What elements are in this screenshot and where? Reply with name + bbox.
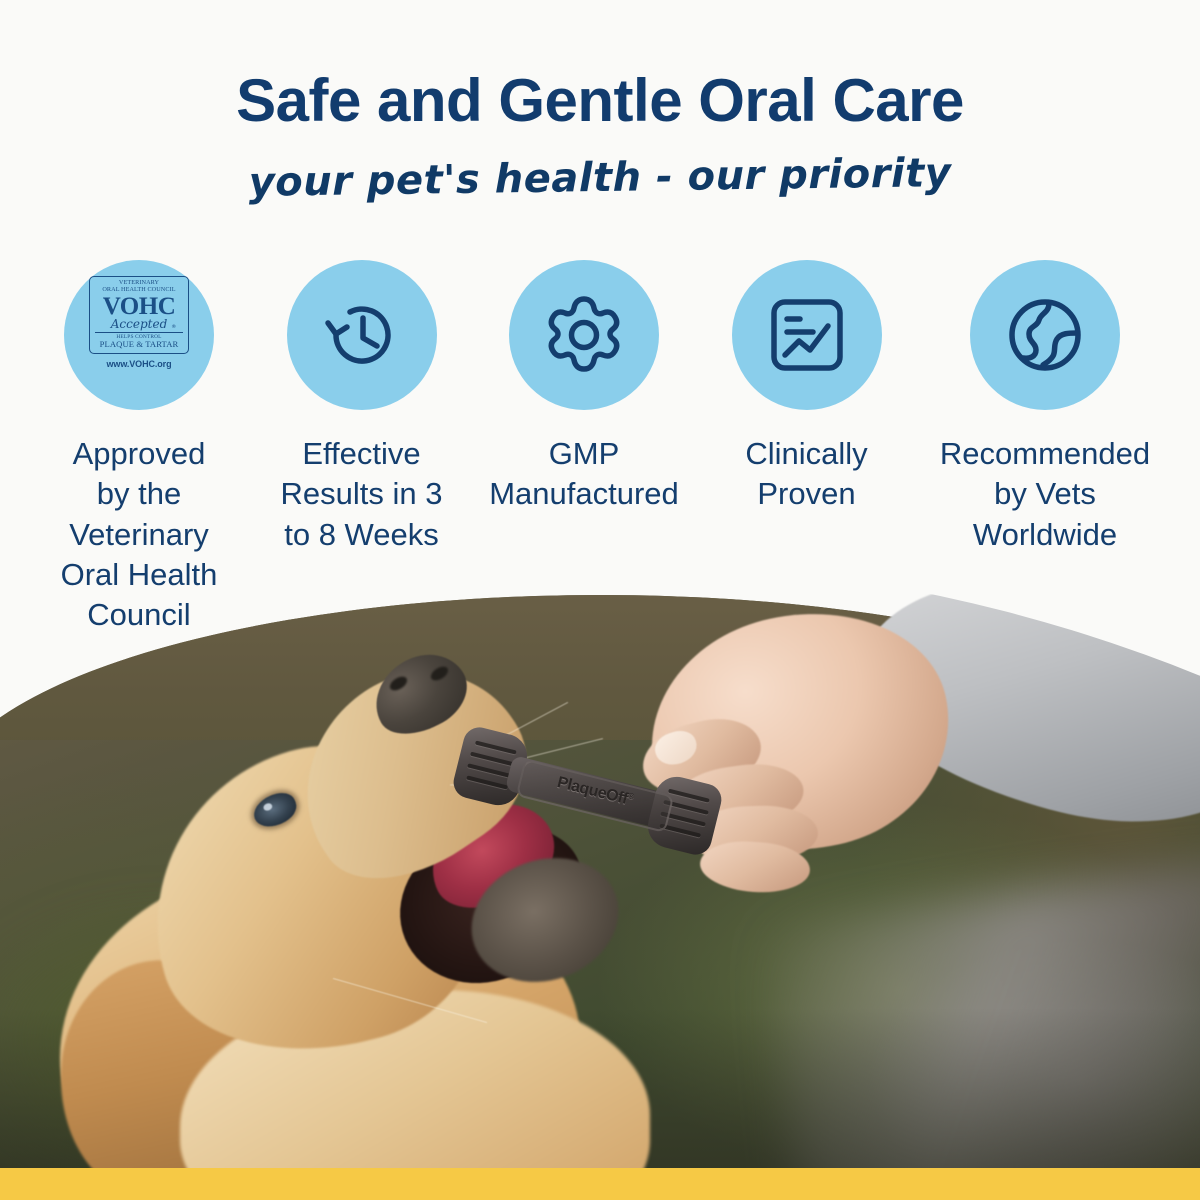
registered-mark: ® bbox=[627, 791, 635, 801]
feature-label: GMP Manufactured bbox=[489, 434, 679, 515]
clock-rotate-icon bbox=[318, 291, 406, 379]
registered-mark: ® bbox=[171, 325, 176, 330]
feature-icon-circle: VETERINARY ORAL HEALTH COUNCIL VOHC Acce… bbox=[64, 260, 214, 410]
page-title: Safe and Gentle Oral Care bbox=[0, 66, 1200, 135]
feature-gmp-manufactured: GMP Manufactured bbox=[475, 260, 693, 515]
feature-label: Recommended by Vets Worldwide bbox=[940, 434, 1150, 555]
feature-icon-circle bbox=[509, 260, 659, 410]
vohc-wordmark: VOHC bbox=[103, 295, 176, 319]
divider bbox=[95, 332, 183, 333]
feature-icon-circle bbox=[287, 260, 437, 410]
feature-label: Effective Results in 3 to 8 Weeks bbox=[281, 434, 443, 555]
feature-recommended-by-vets: Recommended by Vets Worldwide bbox=[920, 260, 1170, 555]
hero-photo: PlaqueOff® bbox=[0, 560, 1200, 1168]
vohc-url: www.VOHC.org bbox=[107, 359, 172, 369]
bottom-accent-bar bbox=[0, 1168, 1200, 1200]
marketing-graphic: Safe and Gentle Oral Care your pet's hea… bbox=[0, 0, 1200, 1200]
feature-label: Clinically Proven bbox=[745, 434, 867, 515]
page-subtitle: your pet's health - our priority bbox=[0, 147, 1200, 210]
chart-report-icon bbox=[765, 293, 849, 377]
feature-icon-circle bbox=[970, 260, 1120, 410]
feature-effective-results: Effective Results in 3 to 8 Weeks bbox=[253, 260, 471, 555]
globe-icon bbox=[1003, 293, 1087, 377]
gear-icon bbox=[541, 292, 627, 378]
vohc-accepted: Accepted® bbox=[111, 318, 168, 330]
vohc-sub2: PLAQUE & TARTAR bbox=[100, 340, 179, 349]
photo-subject-layer: PlaqueOff® bbox=[0, 560, 1200, 1168]
feature-clinically-proven: Clinically Proven bbox=[698, 260, 916, 515]
feature-icon-circle bbox=[732, 260, 882, 410]
vohc-seal-icon: VETERINARY ORAL HEALTH COUNCIL VOHC Acce… bbox=[87, 276, 191, 394]
